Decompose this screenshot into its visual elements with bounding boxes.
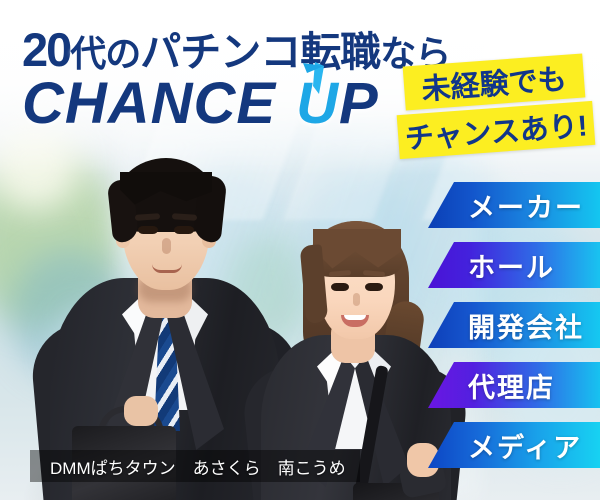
- female-eye-right: [365, 283, 383, 291]
- pachinko-job-banner: 20代のパチンコ転職なら CHANCEUP 未経験でも チャンスあり! メーカー…: [0, 0, 600, 500]
- photo-male-model: [50, 150, 280, 500]
- credit-bar: DMMぱちタウン あさくら 南こうめ: [30, 450, 360, 482]
- category-tag-agency[interactable]: 代理店: [428, 362, 600, 408]
- category-tag-agency-label: 代理店: [468, 366, 555, 405]
- headline: 20代のパチンコ転職なら: [22, 18, 450, 78]
- female-teeth: [344, 315, 366, 320]
- category-tag-hall[interactable]: ホール: [428, 242, 600, 288]
- female-eye-left: [331, 283, 349, 291]
- category-tag-development-company-label: 開発会社: [468, 306, 584, 345]
- category-tag-hall-label: ホール: [468, 246, 555, 285]
- category-tag-development-company[interactable]: 開発会社: [428, 302, 600, 348]
- category-tag-maker[interactable]: メーカー: [428, 182, 600, 228]
- logo-letter-p: P: [339, 71, 379, 136]
- logo-word-chance: CHANCE: [22, 71, 276, 136]
- headline-kanji: 転職: [300, 29, 380, 75]
- headline-katakana: パチンコ: [140, 29, 300, 75]
- chance-up-logo: CHANCEUP: [22, 70, 379, 137]
- logo-letter-u-text: U: [296, 71, 339, 136]
- category-tag-media[interactable]: メディア: [428, 422, 600, 468]
- male-nose: [162, 238, 171, 254]
- female-nose: [353, 293, 360, 306]
- male-hand: [124, 396, 158, 426]
- credit-text: DMMぱちタウン あさくら 南こうめ: [50, 454, 346, 479]
- category-tag-media-label: メディア: [468, 426, 582, 465]
- male-mouth: [152, 264, 182, 273]
- male-eye-left: [138, 226, 158, 234]
- headline-after-number: 代の: [70, 33, 140, 74]
- logo-letter-u: U: [296, 70, 339, 137]
- category-tag-maker-label: メーカー: [468, 186, 584, 225]
- headline-number: 20: [22, 23, 70, 76]
- male-eye-right: [174, 226, 194, 234]
